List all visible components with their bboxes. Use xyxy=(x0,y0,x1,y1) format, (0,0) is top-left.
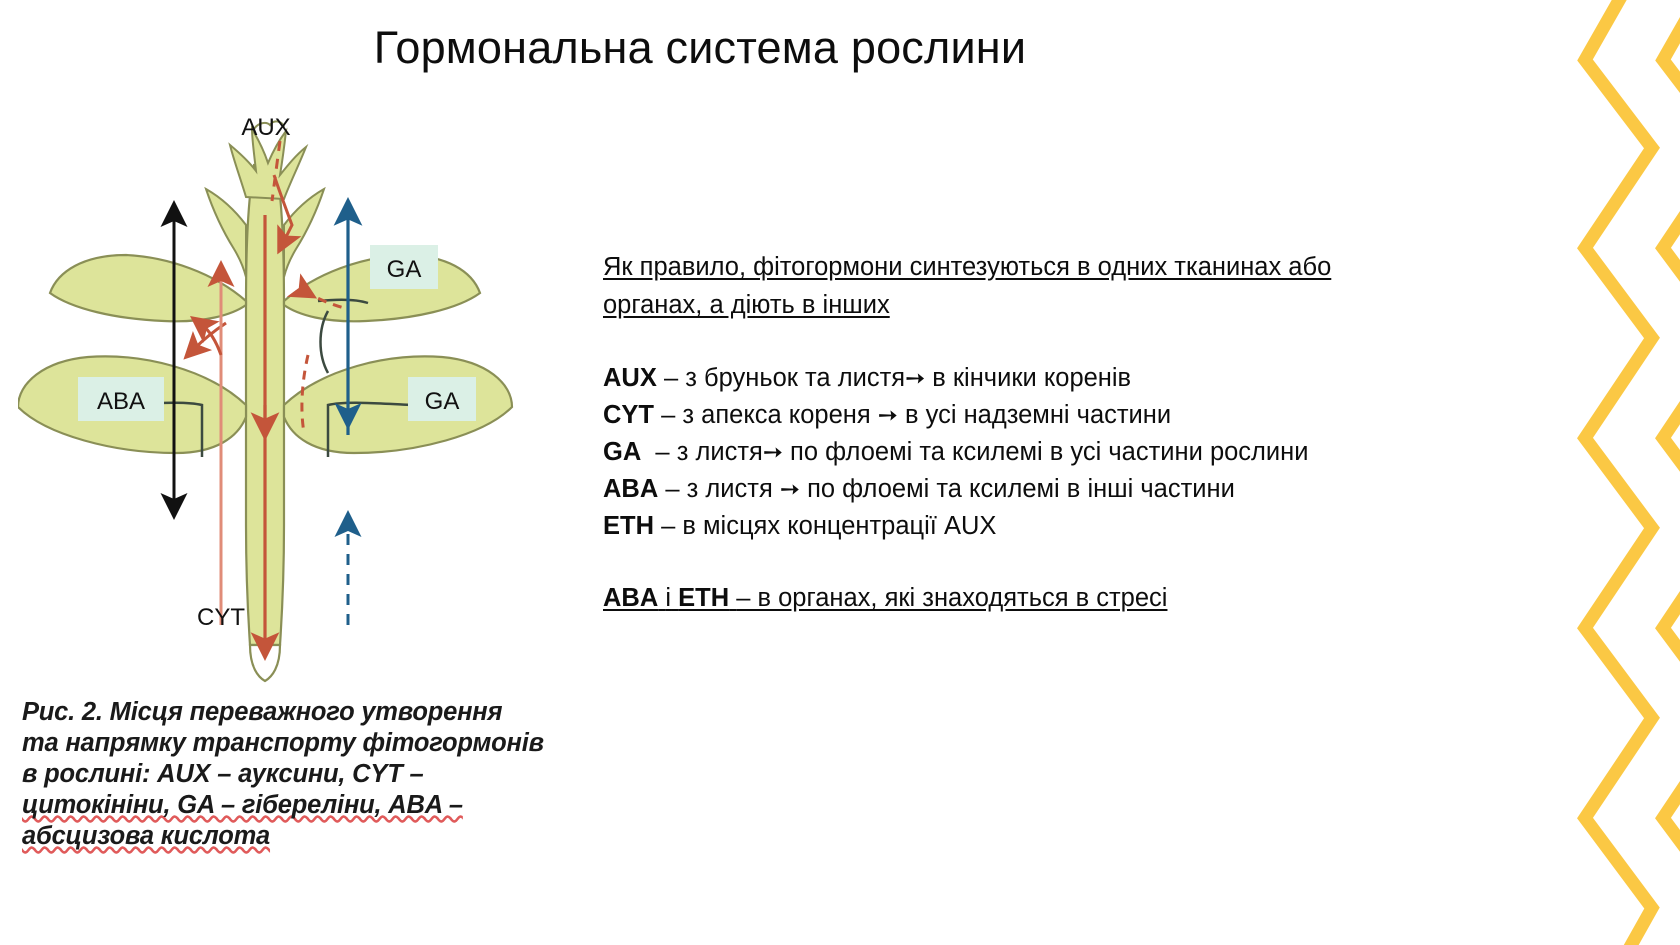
arrow-icon: ➙ xyxy=(878,402,898,429)
caption-line-3: в рослині: AUX – ауксини, CYT – xyxy=(22,760,423,788)
dash-eth: – xyxy=(661,512,675,540)
stress-code-aba: ABA xyxy=(603,584,658,612)
hormone-source-aba: з листя xyxy=(687,475,773,503)
caption-line-5: абсцизова кислота xyxy=(22,822,270,850)
hormone-source-cyt: з апекса кореня xyxy=(682,401,870,429)
hormone-code-cyt: CYT xyxy=(603,401,654,429)
slide-root: Гормональна система рослини xyxy=(0,0,1680,945)
hormone-source-aux: з бруньок та листя xyxy=(685,364,905,392)
svg-text:GA: GA xyxy=(387,256,422,283)
dash-cyt: – xyxy=(661,401,675,429)
hormone-code-aba: ABA xyxy=(603,475,658,503)
hormone-line-cyt: CYT – з апекса кореня ➙ в усі надземні ч… xyxy=(603,397,1393,434)
hormone-line-eth: ETH – в місцях концентрації AUX xyxy=(603,508,1393,544)
hormone-code-aux: AUX xyxy=(603,364,657,392)
arrow-icon: ➙ xyxy=(780,476,800,503)
page-title: Гормональна система рослини xyxy=(0,22,1400,74)
dash-aba: – xyxy=(665,475,679,503)
lead-statement: Як правило, фітогормони синтезуються в о… xyxy=(603,248,1393,324)
diagram-label-ga-upper: GA xyxy=(370,245,438,289)
svg-text:ABA: ABA xyxy=(97,388,145,415)
stress-conjunction: і xyxy=(665,584,671,612)
hormone-target-aba: по флоемі та ксилемі в інші частини xyxy=(807,475,1235,503)
dash-ga: – xyxy=(655,438,669,466)
diagram-label-ga-lower: GA xyxy=(408,377,476,421)
stress-text: – в органах, які знаходяться в стресі xyxy=(736,584,1167,612)
hormone-code-ga: GA xyxy=(603,438,641,466)
hormone-line-ga: GA – з листя➙ по флоемі та ксилемі в усі… xyxy=(603,434,1393,471)
figure-caption: Рис. 2. Місця переважного утворення та н… xyxy=(22,697,567,852)
content-block: Як правило, фітогормони синтезуються в о… xyxy=(603,248,1393,616)
dash-aux: – xyxy=(664,364,678,392)
svg-text:GA: GA xyxy=(425,388,460,415)
diagram-label-aux: AUX xyxy=(241,114,290,141)
hormone-line-aux: AUX – з бруньок та листя➙ в кінчики коре… xyxy=(603,360,1393,397)
hormone-target-ga: по флоемі та ксилемі в усі частини росли… xyxy=(790,438,1308,466)
hormone-line-aba: ABA – з листя ➙ по флоемі та ксилемі в і… xyxy=(603,471,1393,508)
caption-line-2: та напрямку транспорту фітогормонів xyxy=(22,729,544,757)
diagram-label-aba: ABA xyxy=(78,377,164,421)
diagram-label-cyt: CYT xyxy=(197,604,245,631)
hormone-source-ga: з листя xyxy=(677,438,763,466)
caption-line-1: Рис. 2. Місця переважного утворення xyxy=(22,698,502,726)
spacer xyxy=(603,544,1393,580)
zigzag-stroke-front xyxy=(1585,0,1652,945)
arrow-icon: ➙ xyxy=(905,365,925,392)
arrow-icon: ➙ xyxy=(763,439,783,466)
caption-line-4: цитокініни, GA – гібереліни, ABA – xyxy=(22,791,463,819)
hormone-target-cyt: в усі надземні частини xyxy=(905,401,1171,429)
zigzag-stroke-back xyxy=(1663,0,1680,945)
stress-code-eth: ETH xyxy=(678,584,729,612)
hormone-code-eth: ETH xyxy=(603,512,654,540)
zigzag-decoration xyxy=(1380,0,1680,945)
plant-hormone-transport-diagram: AUX GA GA ABA CYT xyxy=(18,105,578,685)
hormone-source-eth: в місцях концентрації AUX xyxy=(682,512,996,540)
stress-note: ABA і ETH – в органах, які знаходяться в… xyxy=(603,580,1393,616)
hormone-target-aux: в кінчики коренів xyxy=(932,364,1131,392)
